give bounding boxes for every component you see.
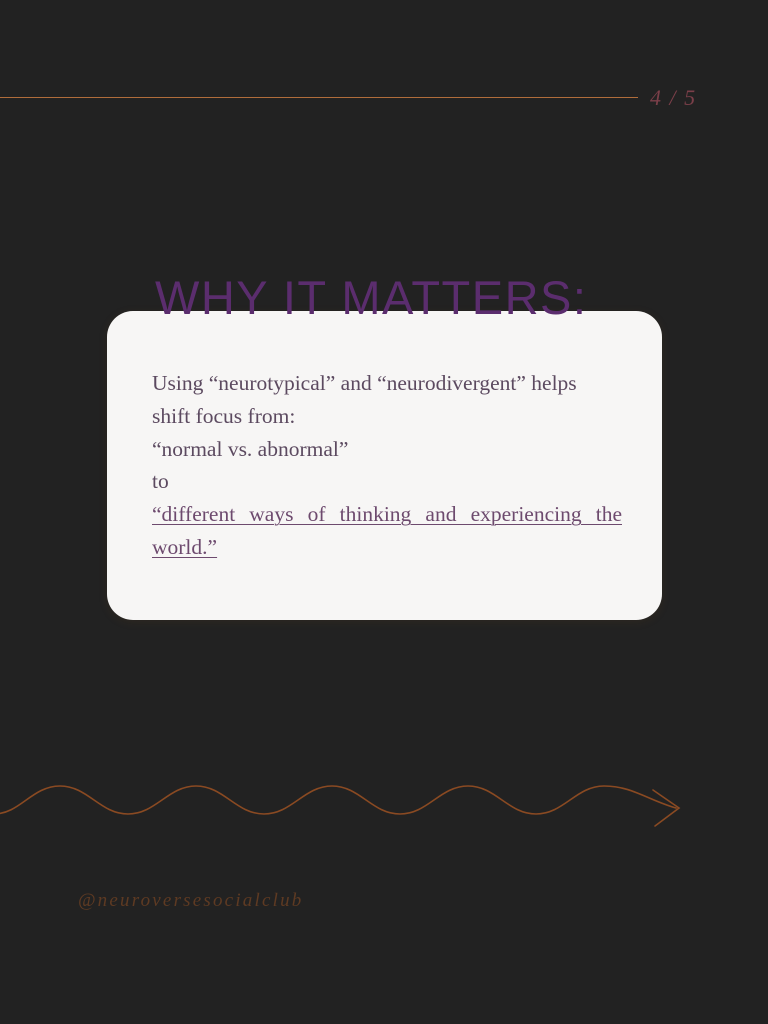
card-body-text: Using “neurotypical” and “neurodivergent… bbox=[152, 367, 622, 564]
content-card: Using “neurotypical” and “neurodivergent… bbox=[107, 311, 662, 620]
body-line-2: shift focus from: bbox=[152, 400, 622, 433]
body-line-4: to bbox=[152, 465, 622, 498]
slide-canvas: 4 / 5 WHY IT MATTERS: Using “neurotypica… bbox=[0, 0, 768, 1024]
body-line-3: “normal vs. abnormal” bbox=[152, 433, 622, 466]
body-line-6-emphasis: world.” bbox=[152, 531, 622, 564]
page-title: WHY IT MATTERS: bbox=[155, 272, 587, 324]
slide-header: 4 / 5 bbox=[0, 78, 768, 118]
social-handle: @neuroversesocialclub bbox=[78, 886, 304, 916]
body-line-1: Using “neurotypical” and “neurodivergent… bbox=[152, 367, 622, 400]
wave-path bbox=[0, 786, 676, 814]
wavy-arrow-decoration bbox=[0, 770, 700, 850]
page-indicator: 4 / 5 bbox=[650, 78, 760, 118]
body-line-5-emphasis: “different ways of thinking and experien… bbox=[152, 498, 622, 531]
header-divider-rule bbox=[0, 97, 638, 98]
